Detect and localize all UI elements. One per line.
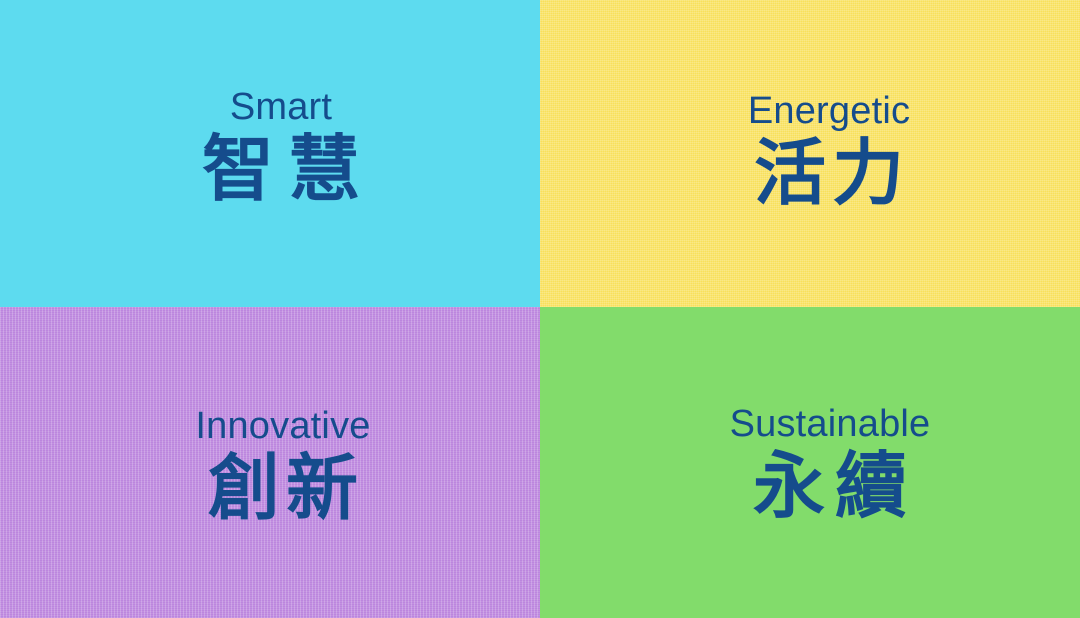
quadrant-sustainable: Sustainable 永續 [540,307,1080,618]
label-stack-sustainable: Sustainable 永續 [730,405,931,523]
label-cjk-sustainable: 永續 [743,451,917,523]
label-stack-energetic: Energetic 活力 [748,92,910,210]
label-en-sustainable: Sustainable [730,405,931,443]
label-en-smart: Smart [230,88,332,126]
quadrant-smart: Smart 智慧 [0,0,540,307]
label-en-energetic: Energetic [748,92,910,130]
quadrant-innovative: Innovative 創新 [0,307,540,618]
label-cjk-smart: 智慧 [188,134,374,206]
quadrant-energetic: Energetic 活力 [540,0,1080,307]
label-cjk-energetic: 活力 [748,138,910,210]
label-cjk-innovative: 創新 [202,453,364,525]
brand-values-quadrant-board: Smart 智慧 Energetic 活力 Innovative 創新 Sust… [0,0,1080,618]
label-stack-innovative: Innovative 創新 [195,407,370,525]
label-en-innovative: Innovative [195,407,370,445]
label-stack-smart: Smart 智慧 [188,88,374,206]
